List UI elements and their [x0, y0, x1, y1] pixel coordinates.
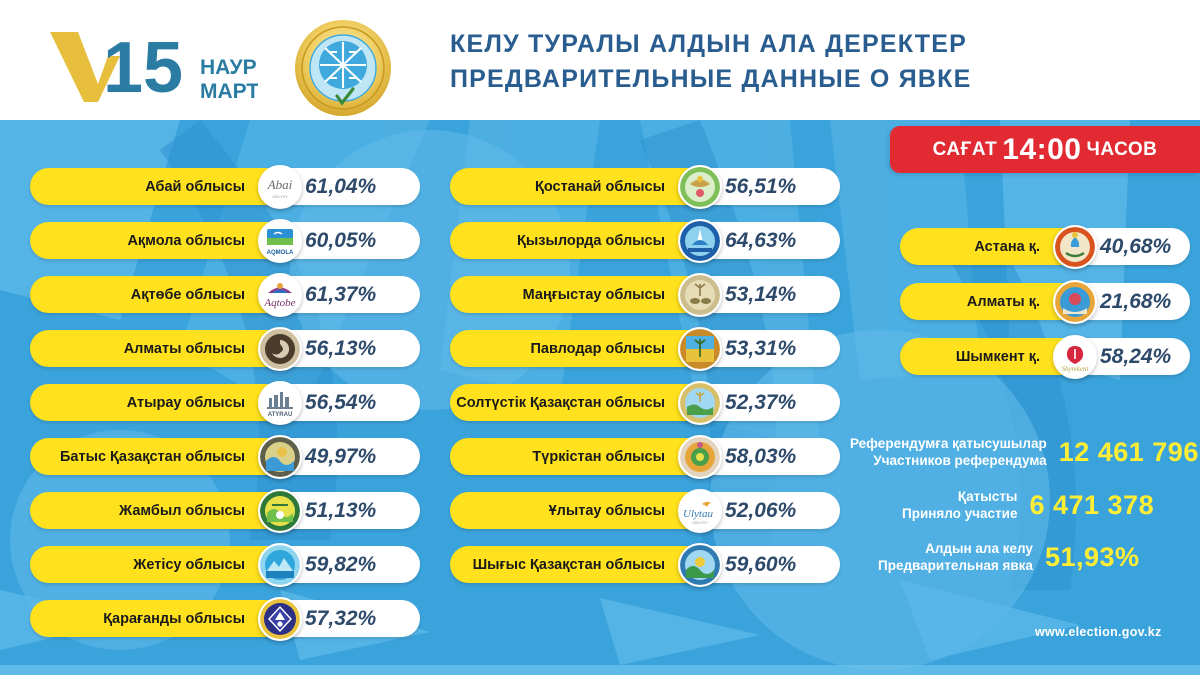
- city-percent: 58,24%: [1100, 345, 1171, 369]
- region-label: Абай облысы: [145, 179, 245, 195]
- region-row[interactable]: Қостанай облысы 56,51%: [450, 168, 840, 205]
- summary-labels: Қатысты Приняло участие: [902, 488, 1029, 522]
- region-row[interactable]: Солтүстік Қазақстан облысы 52,37%: [450, 384, 840, 421]
- region-name-pill: Қостанай облысы: [450, 168, 695, 205]
- svg-text:ATYRAU: ATYRAU: [268, 412, 293, 418]
- qyzylorda-oblysy-crest-icon: [678, 219, 722, 263]
- region-percent: 60,05%: [305, 229, 376, 253]
- region-row[interactable]: Шығыс Қазақстан облысы 59,60%: [450, 546, 840, 583]
- turkistan-oblysy-crest-icon: [678, 435, 722, 479]
- city-label: Астана қ.: [974, 239, 1040, 255]
- ulytau-oblysy-crest-icon: UlytauOBLYSY: [678, 489, 722, 533]
- shygys-qazaqstan-oblysy-crest-icon: [678, 543, 722, 587]
- svg-text:15: 15: [103, 28, 183, 106]
- region-name-pill: Алматы облысы: [30, 330, 275, 367]
- city-name-pill: Шымкент қ.: [900, 338, 1070, 375]
- region-label: Түркістан облысы: [532, 449, 665, 465]
- svg-text:Ulytau: Ulytau: [683, 508, 713, 520]
- svg-text:Aqtobe: Aqtobe: [263, 297, 295, 309]
- region-row[interactable]: Түркістан облысы 58,03%: [450, 438, 840, 475]
- region-percent: 56,13%: [305, 337, 376, 361]
- region-name-pill: Маңғыстау облысы: [450, 276, 695, 313]
- qaragandy-oblysy-crest-icon: [258, 597, 302, 641]
- batys-qazaqstan-oblysy-crest-icon: [258, 435, 302, 479]
- city-name-pill: Астана қ.: [900, 228, 1070, 265]
- region-row[interactable]: Ақтөбе облысы 61,37% Aqtobe: [30, 276, 420, 313]
- svg-text:МАРТА: МАРТА: [200, 80, 258, 103]
- city-percent: 21,68%: [1100, 290, 1171, 314]
- region-percent: 61,04%: [305, 175, 376, 199]
- region-row[interactable]: Алматы облысы 56,13%: [30, 330, 420, 367]
- region-percent: 58,03%: [725, 445, 796, 469]
- astana-city-crest-icon: [1053, 225, 1097, 269]
- summary-label-kazakh: Алдын ала келу: [878, 540, 1033, 557]
- region-name-pill: Ақмола облысы: [30, 222, 275, 259]
- region-name-pill: Жетісу облысы: [30, 546, 275, 583]
- page-title: КЕЛУ ТУРАЛЫ АЛДЫН АЛА ДЕРЕКТЕР ПРЕДВАРИТ…: [450, 27, 971, 97]
- region-percent: 59,82%: [305, 553, 376, 577]
- region-name-pill: Батыс Қазақстан облысы: [30, 438, 275, 475]
- region-name-pill: Қызылорда облысы: [450, 222, 695, 259]
- atyrau-oblysy-crest-icon: ATYRAU: [258, 381, 302, 425]
- title-kazakh: КЕЛУ ТУРАЛЫ АЛДЫН АЛА ДЕРЕКТЕР: [450, 27, 971, 62]
- region-name-pill: Атырау облысы: [30, 384, 275, 421]
- summary-stat: Қатысты Приняло участие 6 471 378: [902, 488, 1154, 522]
- region-row[interactable]: Жамбыл облысы 51,13%: [30, 492, 420, 529]
- region-name-pill: Шығыс Қазақстан облысы: [450, 546, 695, 583]
- svg-text:OBLYSY: OBLYSY: [692, 520, 708, 525]
- region-row[interactable]: Атырау облысы 56,54% ATYRAU: [30, 384, 420, 421]
- region-percent: 52,37%: [725, 391, 796, 415]
- website-url[interactable]: www.election.gov.kz: [1035, 625, 1162, 639]
- region-label: Атырау облысы: [127, 395, 245, 411]
- svg-text:НАУРЫЗ: НАУРЫЗ: [200, 56, 258, 79]
- region-name-pill: Түркістан облысы: [450, 438, 695, 475]
- summary-stat: Алдын ала келу Предварительная явка 51,9…: [878, 540, 1140, 574]
- region-name-pill: Ұлытау облысы: [450, 492, 695, 529]
- region-label: Маңғыстау облысы: [523, 287, 665, 303]
- region-label: Қарағанды облысы: [103, 611, 245, 627]
- region-percent: 56,51%: [725, 175, 796, 199]
- region-row[interactable]: Қарағанды облысы 57,32%: [30, 600, 420, 637]
- region-label: Жамбыл облысы: [119, 503, 245, 519]
- shymkent-city-crest-icon: Shymkent: [1053, 335, 1097, 379]
- aqtobe-oblysy-crest-icon: Aqtobe: [258, 273, 302, 317]
- region-name-pill: Жамбыл облысы: [30, 492, 275, 529]
- soltustik-qazaqstan-oblysy-crest-icon: [678, 381, 722, 425]
- infographic-root: 15 НАУРЫЗ МАРТА: [0, 0, 1200, 675]
- region-percent: 64,63%: [725, 229, 796, 253]
- region-row[interactable]: Батыс Қазақстан облысы 49,97%: [30, 438, 420, 475]
- mangystau-oblysy-crest-icon: [678, 273, 722, 317]
- region-percent: 57,32%: [305, 607, 376, 631]
- region-row[interactable]: Павлодар облысы 53,31%: [450, 330, 840, 367]
- city-name-pill: Алматы қ.: [900, 283, 1070, 320]
- region-percent: 51,13%: [305, 499, 376, 523]
- region-percent: 53,31%: [725, 337, 796, 361]
- region-row[interactable]: Ұлытау облысы 52,06% UlytauOBLYSY: [450, 492, 840, 529]
- region-label: Ұлытау облысы: [549, 503, 665, 519]
- qostanai-oblysy-crest-icon: [678, 165, 722, 209]
- summary-label-russian: Предварительная явка: [878, 557, 1033, 574]
- logo-15-march: 15 НАУРЫЗ МАРТА: [48, 26, 258, 106]
- svg-text:OBLYSY: OBLYSY: [272, 194, 288, 199]
- region-label: Павлодар облысы: [530, 341, 665, 357]
- region-percent: 56,54%: [305, 391, 376, 415]
- region-label: Алматы облысы: [124, 341, 245, 357]
- city-label: Алматы қ.: [967, 294, 1040, 310]
- almaty-city-crest-icon: [1053, 280, 1097, 324]
- main-panel: САҒАТ 14:00 ЧАСОВ Абай облысы 61,04% Aba…: [0, 120, 1200, 675]
- region-percent: 61,37%: [305, 283, 376, 307]
- region-name-pill: Солтүстік Қазақстан облысы: [450, 384, 695, 421]
- summary-stat: Референдумға қатысушылар Участников рефе…: [850, 435, 1199, 469]
- summary-label-kazakh: Қатысты: [902, 488, 1017, 505]
- header: 15 НАУРЫЗ МАРТА: [0, 0, 1200, 120]
- pavlodar-oblysy-crest-icon: [678, 327, 722, 371]
- abai-oblysy-crest-icon: AbaiOBLYSY: [258, 165, 302, 209]
- region-label: Ақмола облысы: [127, 233, 245, 249]
- city-row[interactable]: Алматы қ. 21,68%: [900, 283, 1190, 320]
- summary-labels: Алдын ала келу Предварительная явка: [878, 540, 1045, 574]
- region-label: Қостанай облысы: [535, 179, 665, 195]
- summary-label-kazakh: Референдумға қатысушылар: [850, 435, 1047, 452]
- region-row[interactable]: Жетісу облысы 59,82%: [30, 546, 420, 583]
- cec-kazakhstan-emblem-icon: [293, 18, 393, 118]
- summary-label-russian: Приняло участие: [902, 505, 1017, 522]
- region-row[interactable]: Ақмола облысы 60,05% AQMOLA: [30, 222, 420, 259]
- region-name-pill: Қарағанды облысы: [30, 600, 275, 637]
- region-label: Батыс Қазақстан облысы: [60, 449, 245, 465]
- title-russian: ПРЕДВАРИТЕЛЬНЫЕ ДАННЫЕ О ЯВКЕ: [450, 62, 971, 97]
- time-banner-prefix: САҒАТ: [933, 139, 998, 161]
- summary-value: 51,93%: [1045, 542, 1140, 573]
- region-name-pill: Павлодар облысы: [450, 330, 695, 367]
- zhetisu-oblysy-crest-icon: [258, 543, 302, 587]
- region-name-pill: Ақтөбе облысы: [30, 276, 275, 313]
- region-name-pill: Абай облысы: [30, 168, 275, 205]
- region-row[interactable]: Маңғыстау облысы 53,14%: [450, 276, 840, 313]
- time-banner: САҒАТ 14:00 ЧАСОВ: [890, 126, 1200, 173]
- region-row[interactable]: Абай облысы 61,04% AbaiOBLYSY: [30, 168, 420, 205]
- summary-value: 12 461 796: [1059, 437, 1199, 468]
- region-label: Жетісу облысы: [133, 557, 245, 573]
- city-label: Шымкент қ.: [956, 349, 1040, 365]
- aqmola-oblysy-crest-icon: AQMOLA: [258, 219, 302, 263]
- city-percent: 40,68%: [1100, 235, 1171, 259]
- region-percent: 52,06%: [725, 499, 796, 523]
- region-row[interactable]: Қызылорда облысы 64,63%: [450, 222, 840, 259]
- time-banner-suffix: ЧАСОВ: [1087, 139, 1158, 161]
- region-label: Солтүстік Қазақстан облысы: [456, 395, 665, 411]
- region-percent: 49,97%: [305, 445, 376, 469]
- svg-text:Abai: Abai: [267, 177, 293, 192]
- region-label: Шығыс Қазақстан облысы: [473, 557, 665, 573]
- city-row[interactable]: Астана қ. 40,68%: [900, 228, 1190, 265]
- zhambyl-oblysy-crest-icon: [258, 489, 302, 533]
- region-label: Ақтөбе облысы: [131, 287, 245, 303]
- svg-text:Shymkent: Shymkent: [1062, 365, 1090, 373]
- svg-text:AQMOLA: AQMOLA: [267, 250, 294, 256]
- region-percent: 59,60%: [725, 553, 796, 577]
- summary-label-russian: Участников референдума: [850, 452, 1047, 469]
- time-banner-time: 14:00: [997, 133, 1086, 167]
- summary-labels: Референдумға қатысушылар Участников рефе…: [850, 435, 1059, 469]
- summary-value: 6 471 378: [1029, 490, 1154, 521]
- almaty-oblysy-crest-icon: [258, 327, 302, 371]
- region-percent: 53,14%: [725, 283, 796, 307]
- city-row[interactable]: Шымкент қ. 58,24% Shymkent: [900, 338, 1190, 375]
- region-label: Қызылорда облысы: [517, 233, 665, 249]
